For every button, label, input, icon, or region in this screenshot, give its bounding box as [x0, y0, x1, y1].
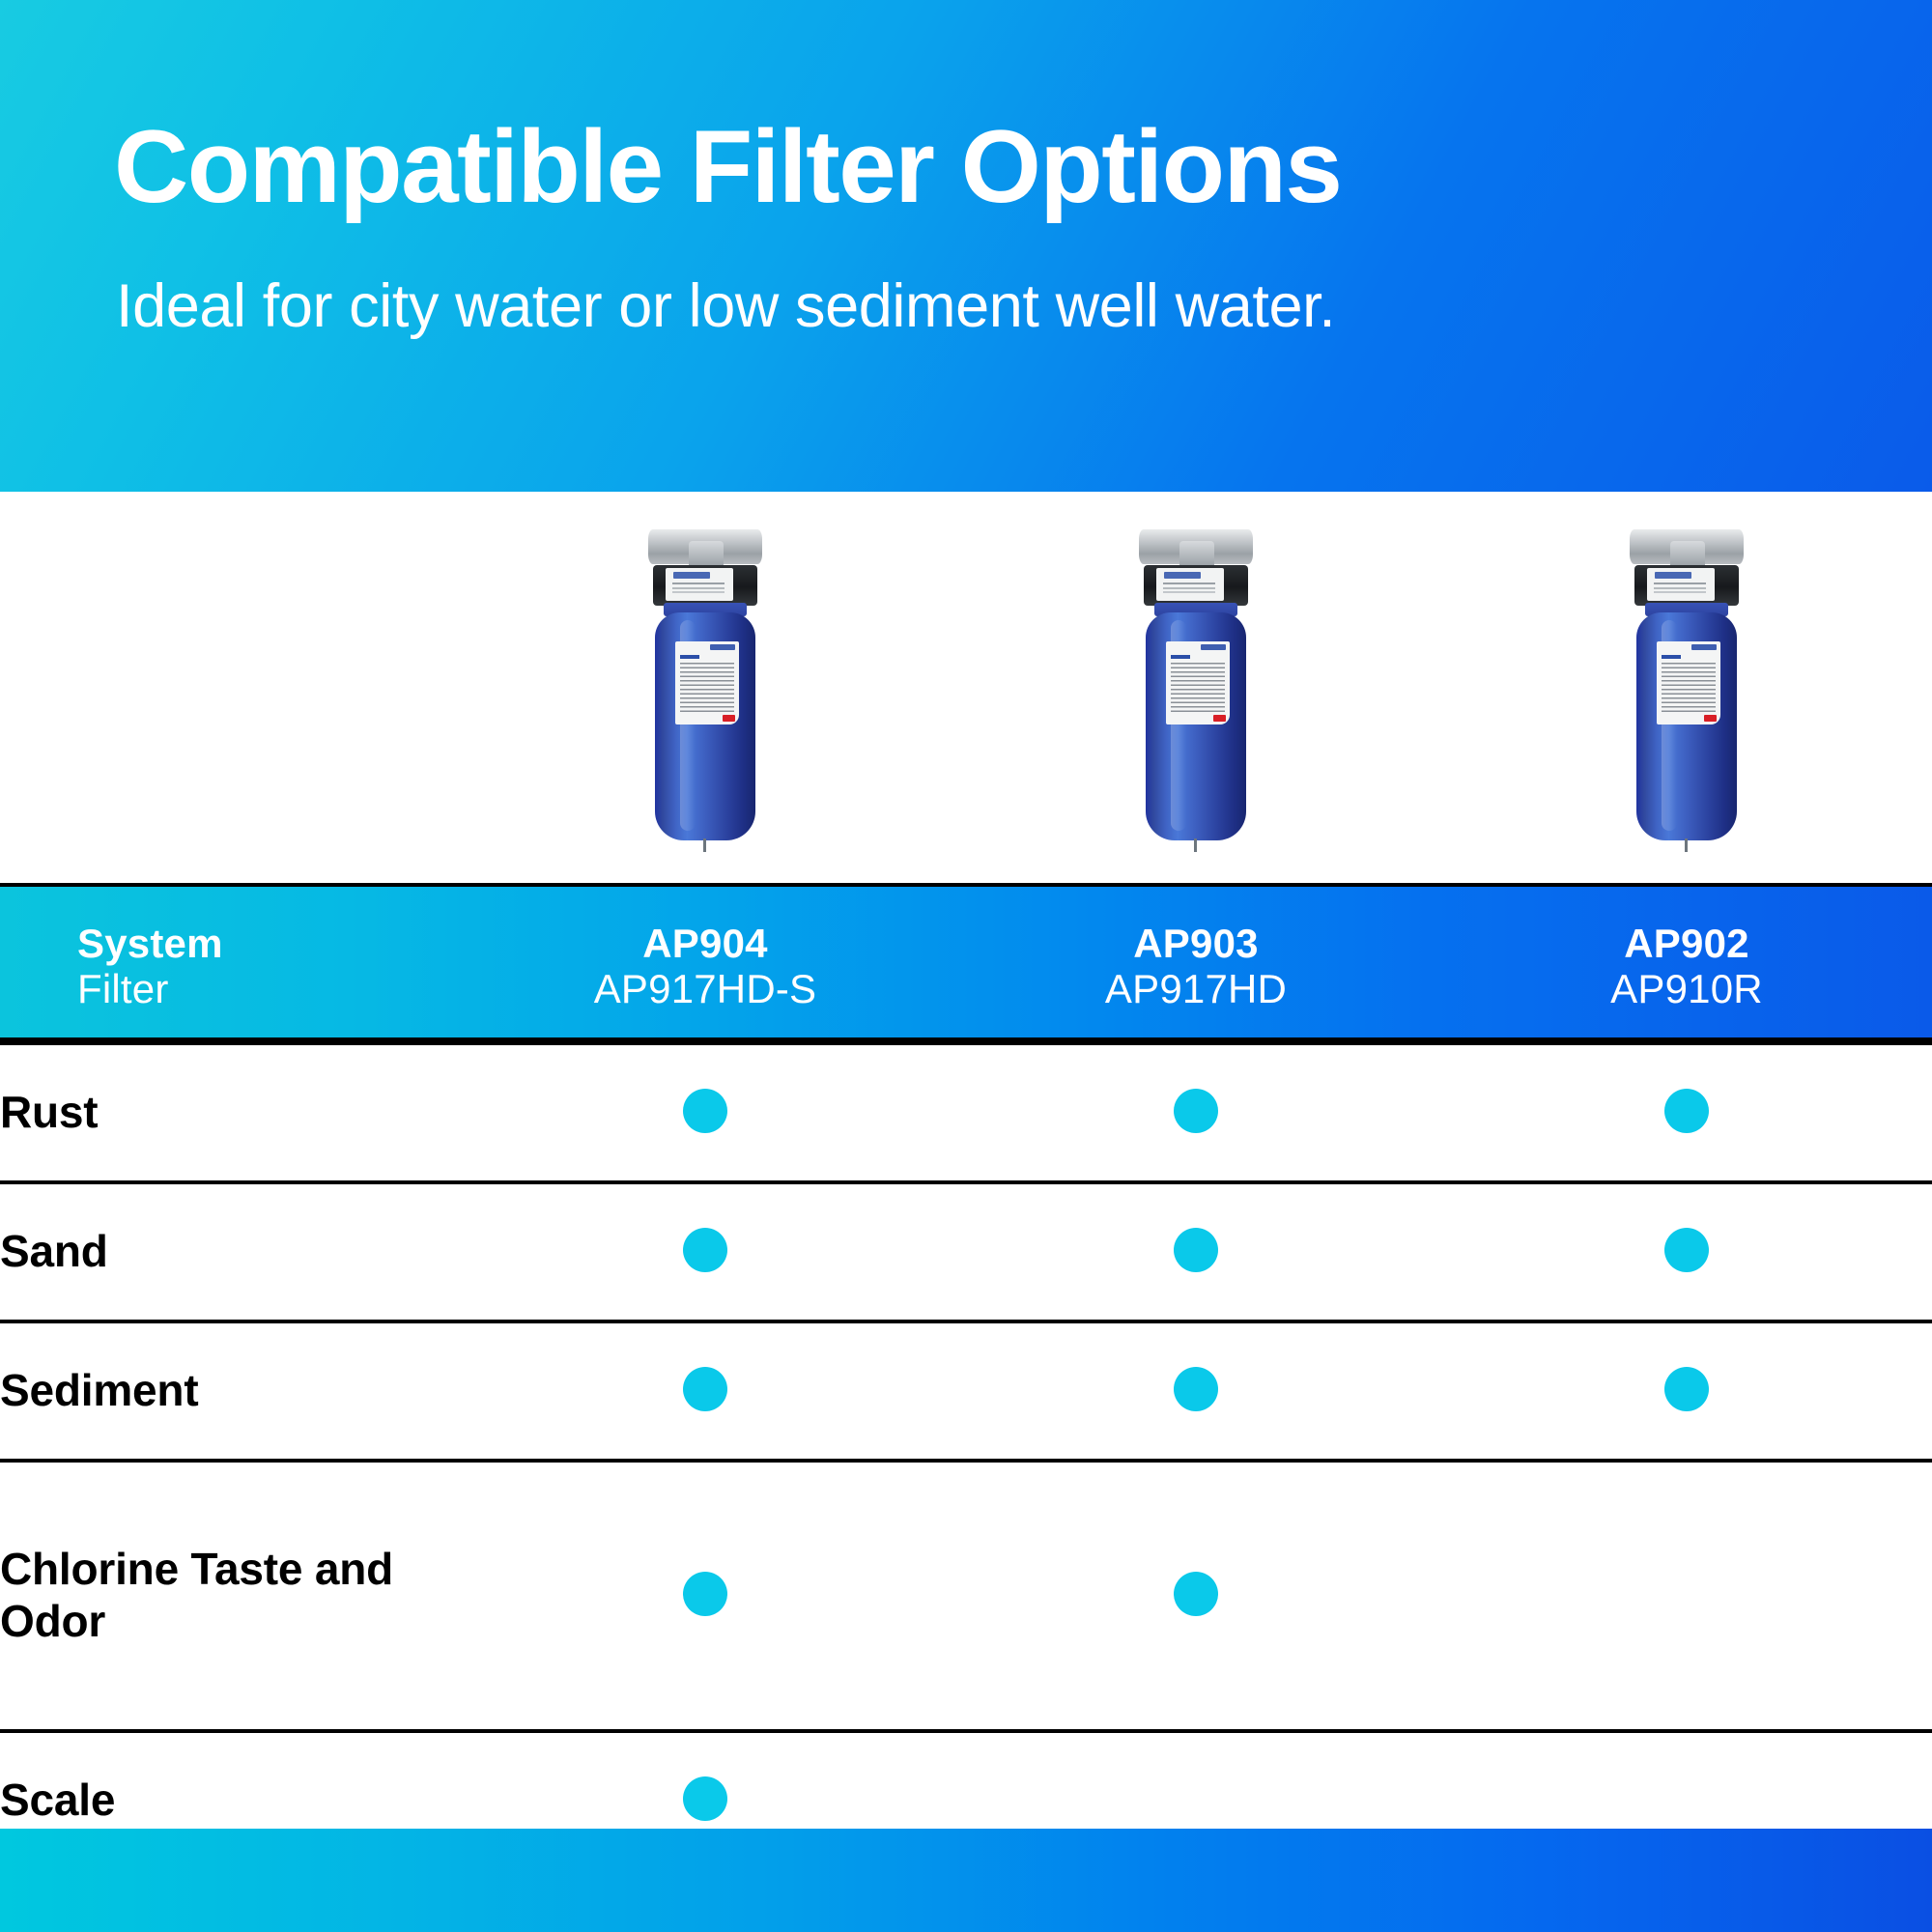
water-filter-icon	[1614, 526, 1759, 854]
filter-comparison-table: System Filter AP904 AP917HD-S AP903 AP91…	[0, 492, 1932, 1872]
page-title: Compatible Filter Options	[114, 112, 1341, 220]
cell-sediment-ap902	[1441, 1321, 1932, 1461]
availability-dot	[1664, 1089, 1709, 1133]
infographic-page: Compatible Filter Options Ideal for city…	[0, 0, 1932, 1932]
table-row: Chlorine Taste and Odor	[0, 1461, 1932, 1731]
header-cell-ap904: AP904 AP917HD-S	[460, 889, 951, 1043]
water-filter-icon	[1123, 526, 1268, 854]
row-label-sand: Sand	[0, 1182, 460, 1321]
cell-sand-ap903	[951, 1182, 1441, 1321]
header-banner: Compatible Filter Options Ideal for city…	[0, 0, 1932, 492]
cell-sediment-ap904	[460, 1321, 951, 1461]
table-row: Rust	[0, 1043, 1932, 1182]
availability-dot	[1174, 1367, 1218, 1411]
water-filter-icon	[633, 526, 778, 854]
product-image-row	[0, 492, 1932, 889]
header-filter-ap917hd-s: AP917HD-S	[460, 966, 951, 1011]
product-image-cell-ap902	[1441, 492, 1932, 889]
cell-sand-ap902	[1441, 1182, 1932, 1321]
header-cell-ap902: AP902 AP910R	[1441, 889, 1932, 1043]
availability-dot	[683, 1367, 727, 1411]
table-row: Sediment	[0, 1321, 1932, 1461]
availability-dot	[1174, 1089, 1218, 1133]
cell-chlorine-ap904	[460, 1461, 951, 1731]
header-label-system: System	[77, 921, 460, 966]
header-label-filter: Filter	[77, 966, 460, 1011]
product-image-cell-ap903	[951, 492, 1441, 889]
cell-chlorine-ap903	[951, 1461, 1441, 1731]
header-row-top-rule	[0, 883, 1932, 887]
availability-dot	[683, 1572, 727, 1616]
header-cell-system-filter: System Filter	[0, 889, 460, 1043]
header-system-ap902: AP902	[1441, 921, 1932, 966]
availability-dot	[683, 1228, 727, 1272]
cell-rust-ap902	[1441, 1043, 1932, 1182]
header-row-bottom-rule	[0, 1037, 1932, 1041]
cell-chlorine-ap902	[1441, 1461, 1932, 1731]
availability-dot	[683, 1776, 727, 1821]
header-filter-ap910r: AP910R	[1441, 966, 1932, 1011]
table-row: Sand	[0, 1182, 1932, 1321]
product-image-cell-ap904	[460, 492, 951, 889]
row-label-chlorine-taste-and-odor: Chlorine Taste and Odor	[0, 1461, 460, 1731]
cell-rust-ap903	[951, 1043, 1441, 1182]
header-system-ap904: AP904	[460, 921, 951, 966]
availability-dot	[1174, 1228, 1218, 1272]
cell-sand-ap904	[460, 1182, 951, 1321]
row-label-rust: Rust	[0, 1043, 460, 1182]
row-label-sediment: Sediment	[0, 1321, 460, 1461]
availability-dot	[1664, 1228, 1709, 1272]
cell-rust-ap904	[460, 1043, 951, 1182]
product-image-row-spacer	[0, 492, 460, 889]
availability-dot	[1174, 1572, 1218, 1616]
page-subtitle: Ideal for city water or low sediment wel…	[116, 273, 1335, 340]
availability-dot	[683, 1089, 727, 1133]
header-filter-ap917hd: AP917HD	[951, 966, 1441, 1011]
table-header-row: System Filter AP904 AP917HD-S AP903 AP91…	[0, 889, 1932, 1043]
header-cell-ap903: AP903 AP917HD	[951, 889, 1441, 1043]
cell-sediment-ap903	[951, 1321, 1441, 1461]
footer-gradient-bar	[0, 1829, 1932, 1932]
availability-dot	[1664, 1367, 1709, 1411]
header-system-ap903: AP903	[951, 921, 1441, 966]
